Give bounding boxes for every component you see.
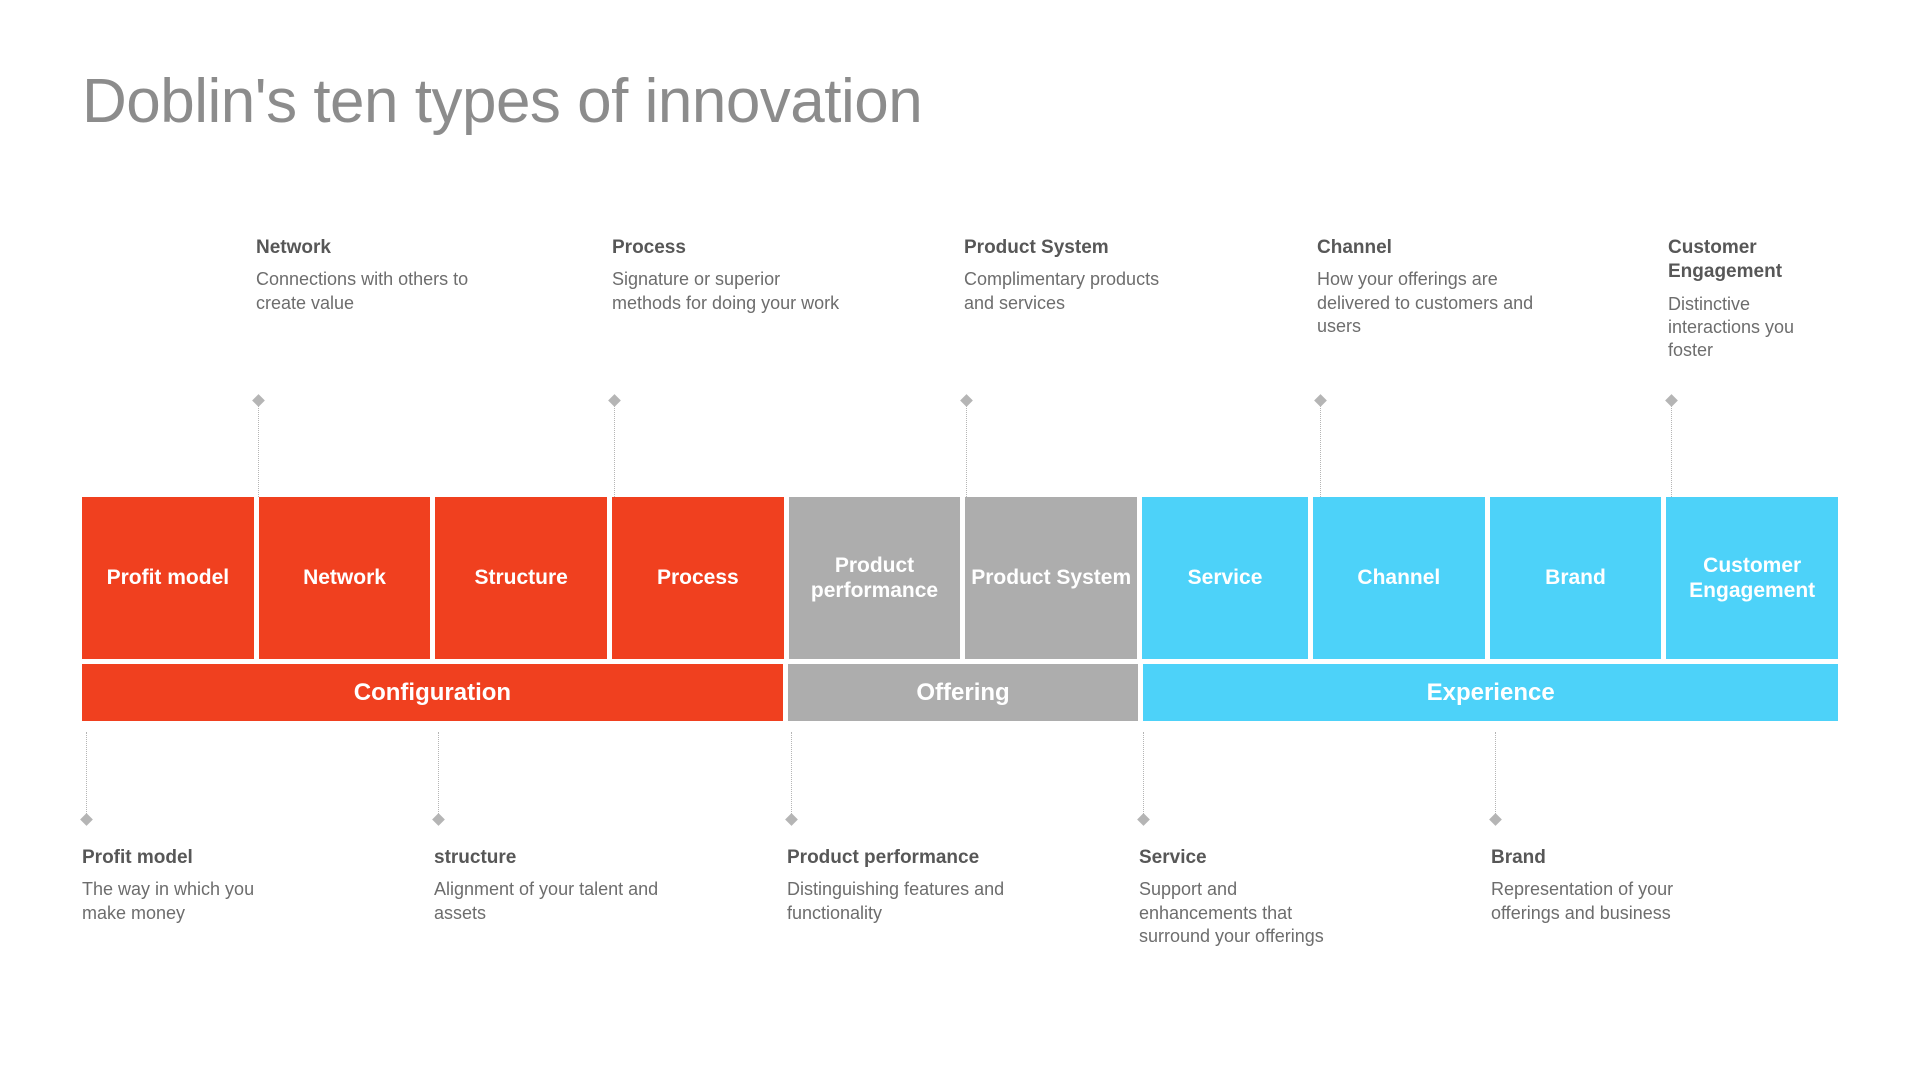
band-configuration[interactable]: Configuration (82, 664, 783, 721)
diamond-marker-icon (1314, 394, 1327, 407)
connector-bottom-structure (434, 732, 443, 824)
annotation-desc: How your offerings are delivered to cust… (1317, 268, 1549, 338)
annotation-title: Profit model (82, 846, 292, 870)
band-label: Configuration (354, 679, 511, 707)
tile-structure[interactable]: Structure (435, 497, 607, 659)
band-label: Experience (1427, 679, 1555, 707)
annotation-bottom-service: Service Support and enhancements that su… (1139, 846, 1339, 948)
connector-bottom-brand (1491, 732, 1500, 824)
annotation-top-customer-engagement: Customer Engagement Distinctive interact… (1668, 236, 1838, 363)
annotation-desc: Signature or superior methods for doing … (612, 268, 844, 315)
tile-network[interactable]: Network (259, 497, 431, 659)
annotation-top-network: Network Connections with others to creat… (256, 236, 471, 315)
annotation-bottom-brand: Brand Representation of your offerings a… (1491, 846, 1681, 925)
annotation-desc: Complimentary products and services (964, 268, 1164, 315)
annotation-title: Customer Engagement (1668, 236, 1838, 285)
diagram-canvas: Doblin's ten types of innovation Network… (0, 0, 1920, 1080)
tile-process[interactable]: Process (612, 497, 784, 659)
diamond-marker-icon (960, 394, 973, 407)
band-experience[interactable]: Experience (1143, 664, 1838, 721)
annotation-title: Service (1139, 846, 1339, 870)
annotation-title: Channel (1317, 236, 1549, 260)
tile-label: Network (303, 565, 386, 590)
annotation-desc: Distinguishing features and functionalit… (787, 878, 1017, 925)
annotation-top-product-system: Product System Complimentary products an… (964, 236, 1164, 315)
annotation-bottom-profit-model: Profit model The way in which you make m… (82, 846, 292, 925)
connector-top-customer-engagement (1667, 396, 1676, 497)
diamond-marker-icon (432, 813, 445, 826)
annotation-bottom-product-performance: Product performance Distinguishing featu… (787, 846, 1017, 925)
diamond-marker-icon (785, 813, 798, 826)
tile-label: Brand (1545, 565, 1606, 590)
diamond-marker-icon (608, 394, 621, 407)
tile-product-performance[interactable]: Product performance (789, 497, 961, 659)
annotation-desc: The way in which you make money (82, 878, 292, 925)
annotation-desc: Connections with others to create value (256, 268, 471, 315)
diamond-marker-icon (1489, 813, 1502, 826)
tiles-row: Profit model Network Structure Process P… (82, 497, 1838, 659)
annotation-desc: Alignment of your talent and assets (434, 878, 674, 925)
connector-line (258, 396, 259, 497)
annotation-top-process: Process Signature or superior methods fo… (612, 236, 844, 315)
annotation-title: structure (434, 846, 674, 870)
band-label: Offering (916, 679, 1009, 707)
annotation-bottom-structure: structure Alignment of your talent and a… (434, 846, 674, 925)
tile-profit-model[interactable]: Profit model (82, 497, 254, 659)
connector-line (1671, 396, 1672, 497)
tile-channel[interactable]: Channel (1313, 497, 1485, 659)
connector-line (86, 732, 87, 824)
innovation-types-chart: Profit model Network Structure Process P… (82, 497, 1838, 721)
tile-label: Customer Engagement (1670, 553, 1834, 603)
page-title: Doblin's ten types of innovation (82, 68, 922, 136)
connector-line (438, 732, 439, 824)
tile-product-system[interactable]: Product System (965, 497, 1137, 659)
tile-label: Process (657, 565, 739, 590)
connector-bottom-profit-model (82, 732, 91, 824)
connector-line (614, 396, 615, 497)
tile-label: Product System (971, 565, 1131, 590)
connector-top-process (610, 396, 619, 497)
tile-label: Product performance (793, 553, 957, 603)
annotation-title: Product performance (787, 846, 1017, 870)
annotation-title: Brand (1491, 846, 1681, 870)
connector-top-network (254, 396, 263, 497)
diamond-marker-icon (252, 394, 265, 407)
tile-service[interactable]: Service (1142, 497, 1308, 659)
annotation-desc: Representation of your offerings and bus… (1491, 878, 1681, 925)
tile-label: Channel (1357, 565, 1440, 590)
band-offering[interactable]: Offering (788, 664, 1138, 721)
annotation-desc: Distinctive interactions you foster (1668, 293, 1838, 363)
annotation-top-channel: Channel How your offerings are delivered… (1317, 236, 1549, 338)
connector-line (1143, 732, 1144, 824)
tile-label: Profit model (107, 565, 230, 590)
annotation-title: Product System (964, 236, 1164, 260)
connector-line (1320, 396, 1321, 497)
diamond-marker-icon (1665, 394, 1678, 407)
connector-bottom-service (1139, 732, 1148, 824)
connector-line (791, 732, 792, 824)
annotation-title: Process (612, 236, 844, 260)
connector-bottom-product-performance (787, 732, 796, 824)
annotation-desc: Support and enhancements that surround y… (1139, 878, 1339, 948)
connector-line (1495, 732, 1496, 824)
tile-label: Structure (475, 565, 568, 590)
annotation-title: Network (256, 236, 471, 260)
tile-label: Service (1188, 565, 1263, 590)
connector-line (966, 396, 967, 497)
tile-brand[interactable]: Brand (1490, 497, 1662, 659)
diamond-marker-icon (1137, 813, 1150, 826)
tile-customer-engagement[interactable]: Customer Engagement (1666, 497, 1838, 659)
category-bands-row: Configuration Offering Experience (82, 664, 1838, 721)
diamond-marker-icon (80, 813, 93, 826)
connector-top-channel (1316, 396, 1325, 497)
connector-top-product-system (962, 396, 971, 497)
